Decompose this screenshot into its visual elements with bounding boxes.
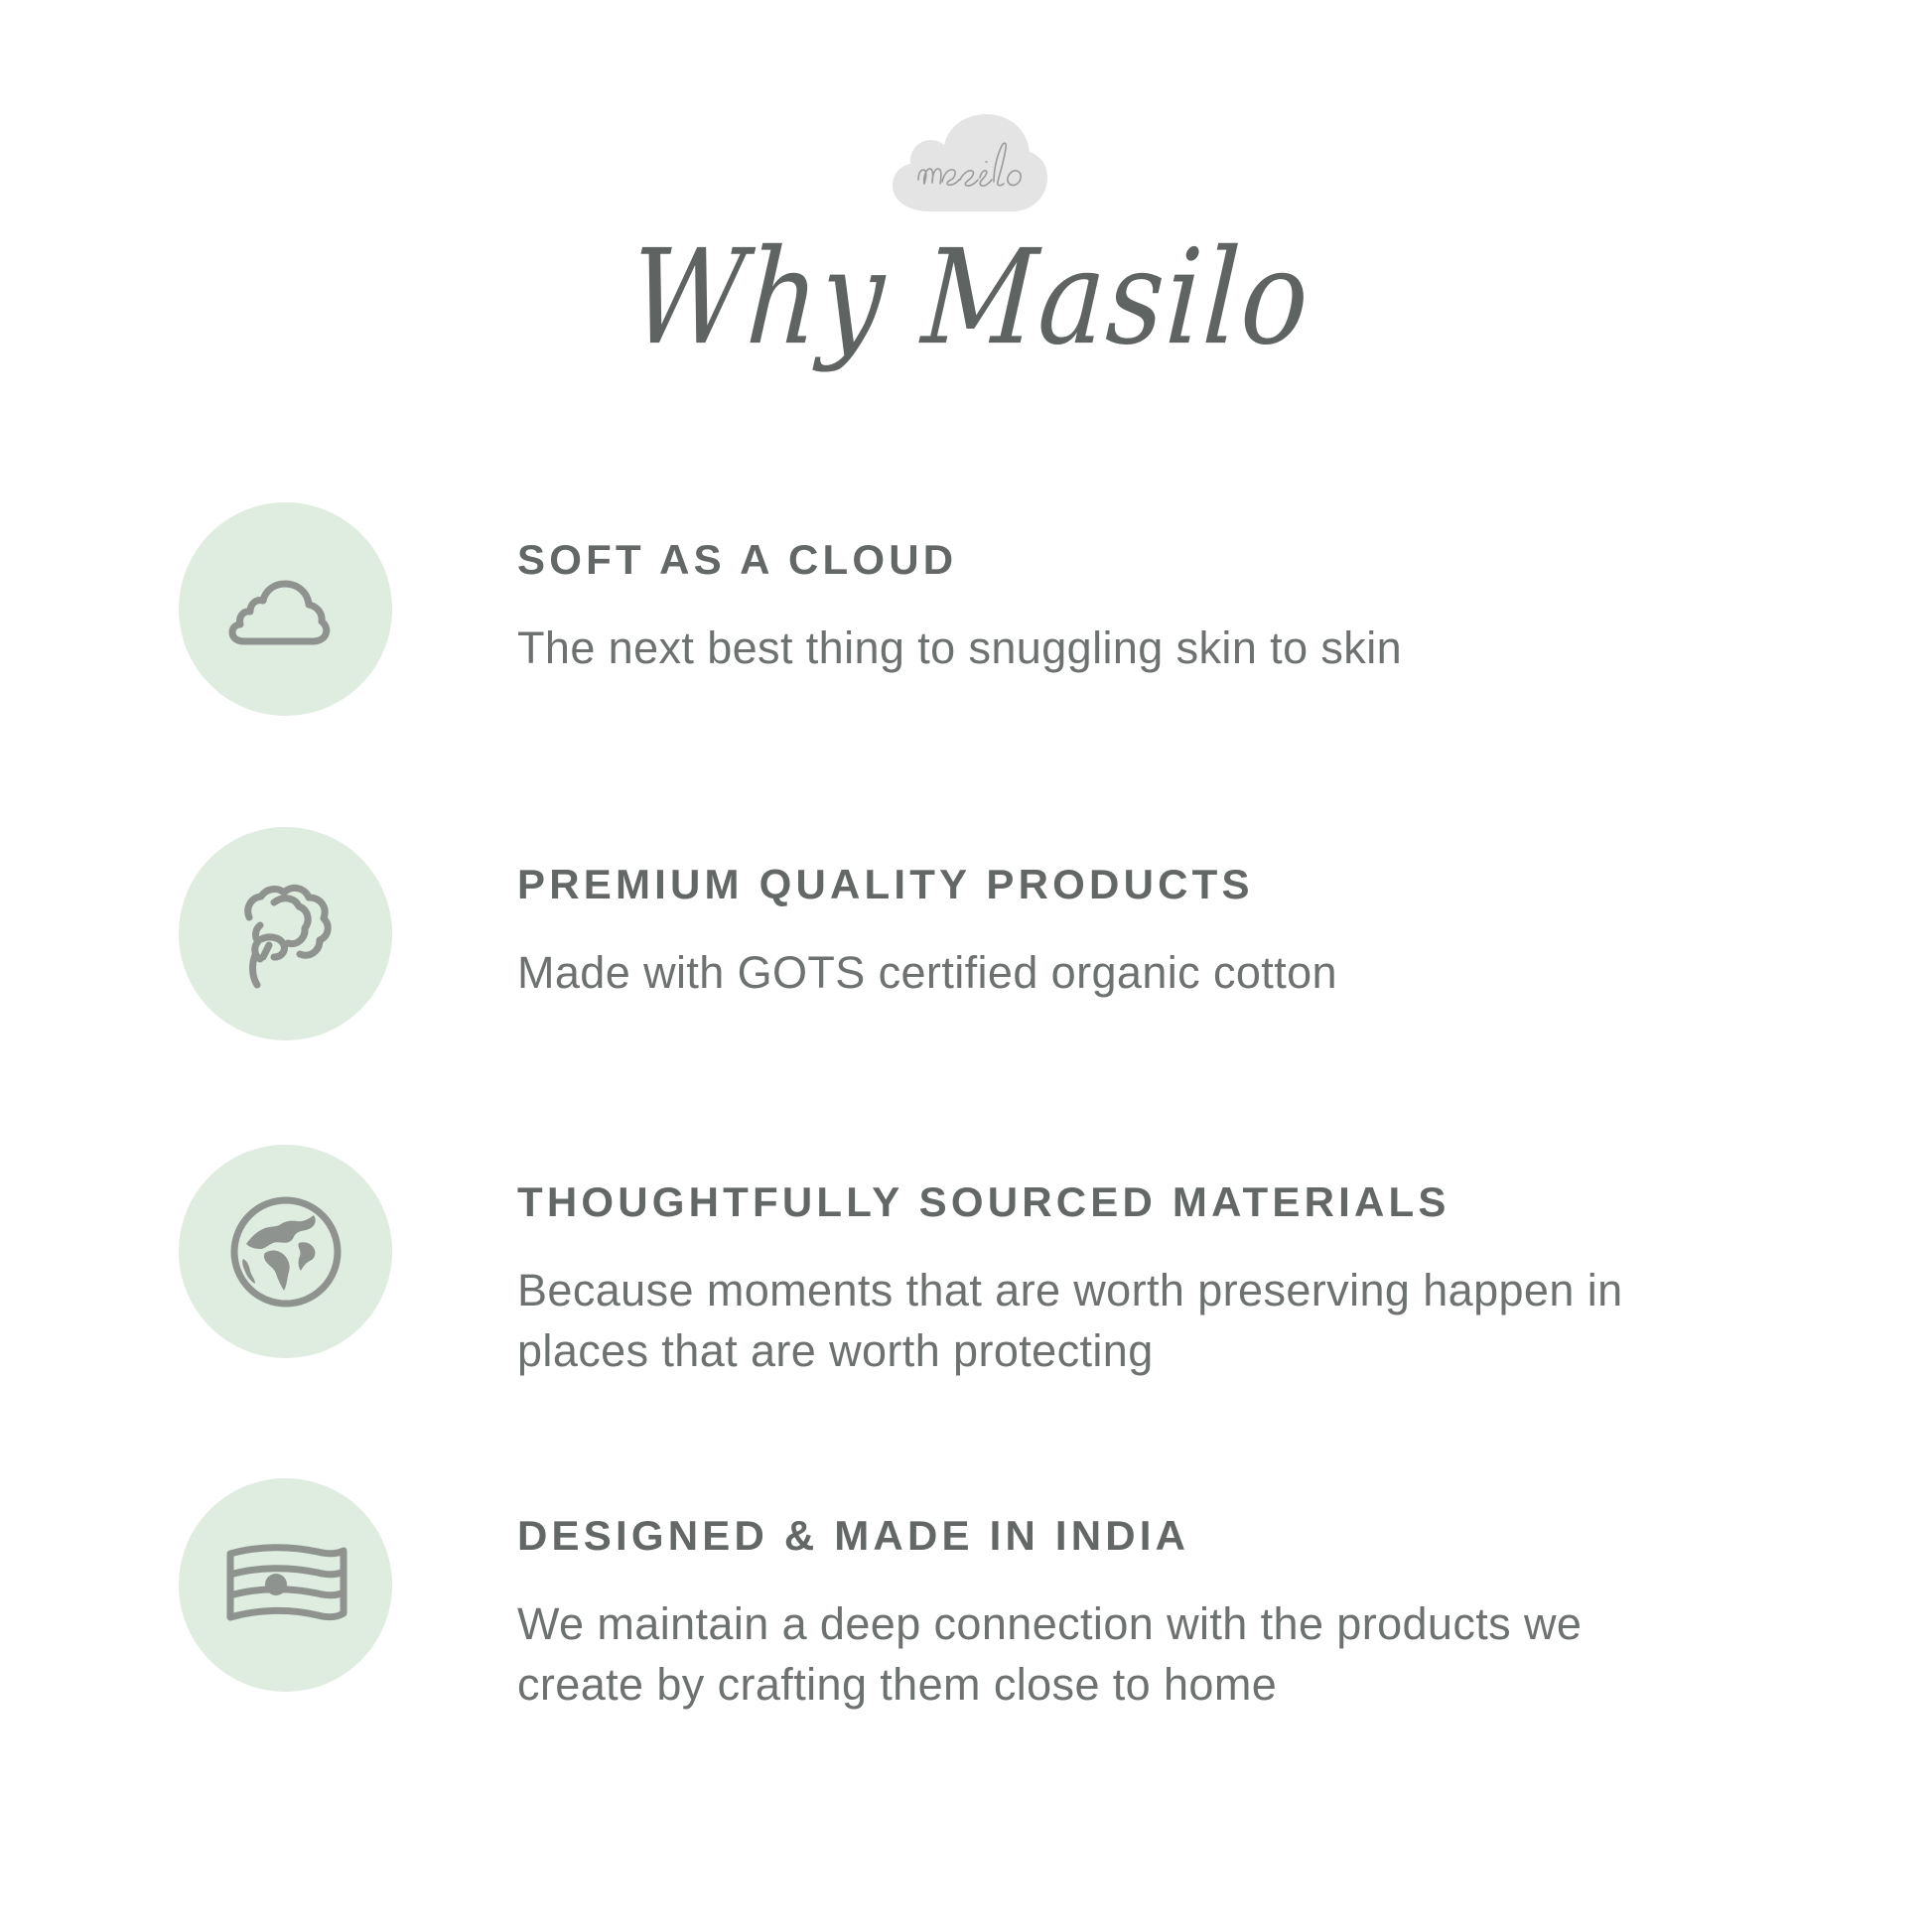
feature-list: SOFT AS A CLOUD The next best thing to s… xyxy=(0,502,1932,1836)
feature-title: PREMIUM QUALITY PRODUCTS xyxy=(517,861,1683,908)
brand-logo xyxy=(0,95,1932,224)
feature-description: The next best thing to snuggling skin to… xyxy=(517,618,1683,678)
feature-description: Because moments that are worth preservin… xyxy=(517,1260,1683,1381)
feature-icon-badge xyxy=(179,827,392,1040)
feature-row: PREMIUM QUALITY PRODUCTS Made with GOTS … xyxy=(0,827,1932,1145)
india-flag-icon xyxy=(218,1538,353,1633)
cloud-logo-icon xyxy=(877,100,1055,219)
feature-row: DESIGNED & MADE IN INDIA We maintain a d… xyxy=(0,1478,1932,1836)
feature-title: SOFT AS A CLOUD xyxy=(517,536,1683,584)
feature-row: THOUGHTFULLY SOURCED MATERIALS Because m… xyxy=(0,1145,1932,1478)
page-title: Why Masilo xyxy=(626,223,1314,374)
cloud-icon xyxy=(220,560,351,659)
feature-description: Made with GOTS certified organic cotton xyxy=(517,942,1683,1003)
feature-description: We maintain a deep connection with the p… xyxy=(517,1593,1683,1715)
feature-icon-badge xyxy=(179,1478,392,1692)
why-masilo-page: Why Masilo SOFT AS A CLOUD The next best… xyxy=(0,0,1932,1932)
feature-title: DESIGNED & MADE IN INDIA xyxy=(517,1512,1683,1560)
feature-row: SOFT AS A CLOUD The next best thing to s… xyxy=(0,502,1932,827)
feature-icon-badge xyxy=(179,1145,392,1358)
feature-icon-badge xyxy=(179,502,392,716)
globe-icon xyxy=(221,1187,350,1316)
feature-title: THOUGHTFULLY SOURCED MATERIALS xyxy=(517,1178,1683,1226)
feature-text: THOUGHTFULLY SOURCED MATERIALS Because m… xyxy=(392,1145,1683,1381)
feature-text: DESIGNED & MADE IN INDIA We maintain a d… xyxy=(392,1478,1683,1715)
page-title-wrapper: Why Masilo xyxy=(0,246,1932,374)
cotton-boll-icon xyxy=(227,874,345,995)
feature-text: PREMIUM QUALITY PRODUCTS Made with GOTS … xyxy=(392,827,1683,1003)
feature-text: SOFT AS A CLOUD The next best thing to s… xyxy=(392,502,1683,678)
